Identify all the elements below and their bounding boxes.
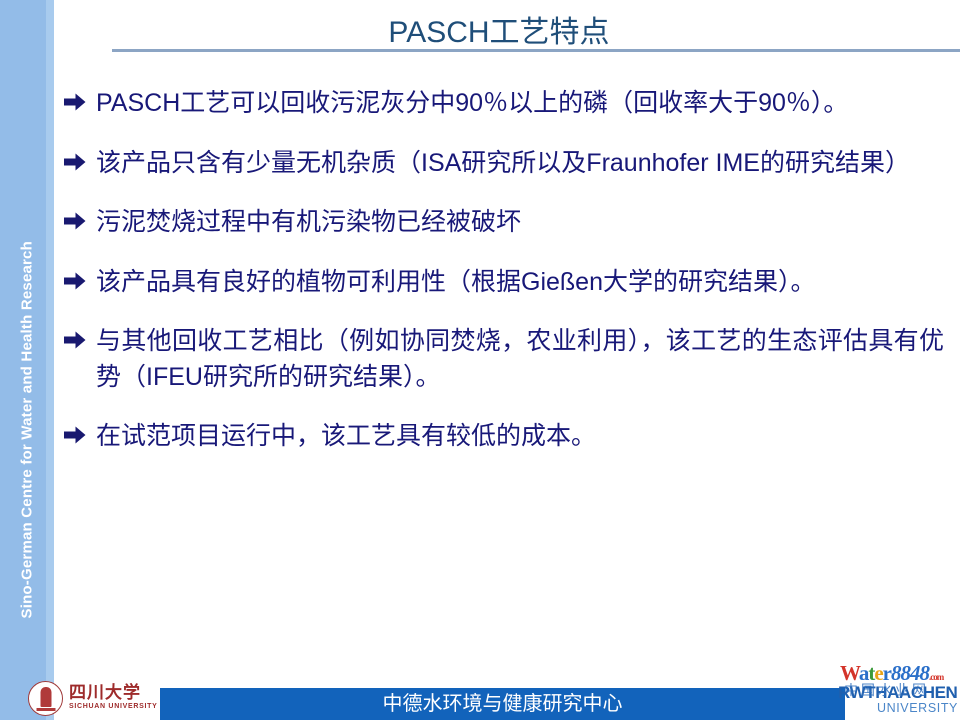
list-item-text: 该产品具有良好的植物可利用性（根据Gießen大学的研究结果）。 — [96, 265, 944, 301]
arrow-right-icon — [64, 324, 96, 349]
list-item-text: 在试范项目运行中，该工艺具有较低的成本。 — [96, 419, 944, 455]
rwth-aachen-name: RWTHAACHEN — [838, 684, 958, 701]
list-item-text: PASCH工艺可以回收污泥灰分中90％以上的磷（回收率大于90％）。 — [96, 86, 944, 122]
list-item: 该产品只含有少量无机杂质（ISA研究所以及Fraunhofer IME的研究结果… — [64, 146, 944, 182]
sichuan-university-name-en: SICHUAN UNIVERSITY — [69, 702, 157, 711]
list-item: 与其他回收工艺相比（例如协同焚烧，农业利用），该工艺的生态评估具有优势（IFEU… — [64, 324, 944, 395]
list-item-text: 与其他回收工艺相比（例如协同焚烧，农业利用），该工艺的生态评估具有优势（IFEU… — [96, 324, 944, 395]
list-item: 在试范项目运行中，该工艺具有较低的成本。 — [64, 419, 944, 455]
list-item-text: 该产品只含有少量无机杂质（ISA研究所以及Fraunhofer IME的研究结果… — [96, 146, 944, 182]
footer-banner: 中德水环境与健康研究中心 — [160, 688, 845, 720]
sidebar: Sino-German Centre for Water and Health … — [0, 0, 54, 720]
sidebar-centre-label: Sino-German Centre for Water and Health … — [19, 0, 36, 619]
arrow-right-icon — [64, 146, 96, 171]
sichuan-university-names: 四川大学 SICHUAN UNIVERSITY — [69, 685, 157, 712]
page-title: PASCH工艺特点 — [54, 7, 944, 51]
list-item-text: 污泥焚烧过程中有机污染物已经被破坏 — [96, 205, 944, 241]
list-item: 污泥焚烧过程中有机污染物已经被破坏 — [64, 205, 944, 241]
arrow-right-icon — [64, 419, 96, 444]
title-area: PASCH工艺特点 — [54, 0, 960, 56]
sidebar-band: Sino-German Centre for Water and Health … — [0, 0, 54, 720]
sichuan-university-name-cn: 四川大学 — [69, 685, 157, 703]
sichuan-university-logo: 四川大学 SICHUAN UNIVERSITY — [28, 678, 164, 718]
rwth-university-word: UNIVERSITY — [838, 701, 958, 716]
slide-canvas: Sino-German Centre for Water and Health … — [0, 0, 960, 720]
arrow-right-icon — [64, 265, 96, 290]
rwth-aachen-logo: RWTHAACHEN UNIVERSITY — [838, 684, 958, 720]
bullet-list: PASCH工艺可以回收污泥灰分中90％以上的磷（回收率大于90％）。 该产品只含… — [64, 86, 944, 646]
title-divider — [112, 49, 960, 52]
arrow-right-icon — [64, 86, 96, 111]
arrow-right-icon — [64, 205, 96, 230]
list-item: 该产品具有良好的植物可利用性（根据Gießen大学的研究结果）。 — [64, 265, 944, 301]
footer-banner-label: 中德水环境与健康研究中心 — [160, 688, 845, 720]
list-item: PASCH工艺可以回收污泥灰分中90％以上的磷（回收率大于90％）。 — [64, 86, 944, 122]
university-seal-icon — [28, 681, 63, 716]
